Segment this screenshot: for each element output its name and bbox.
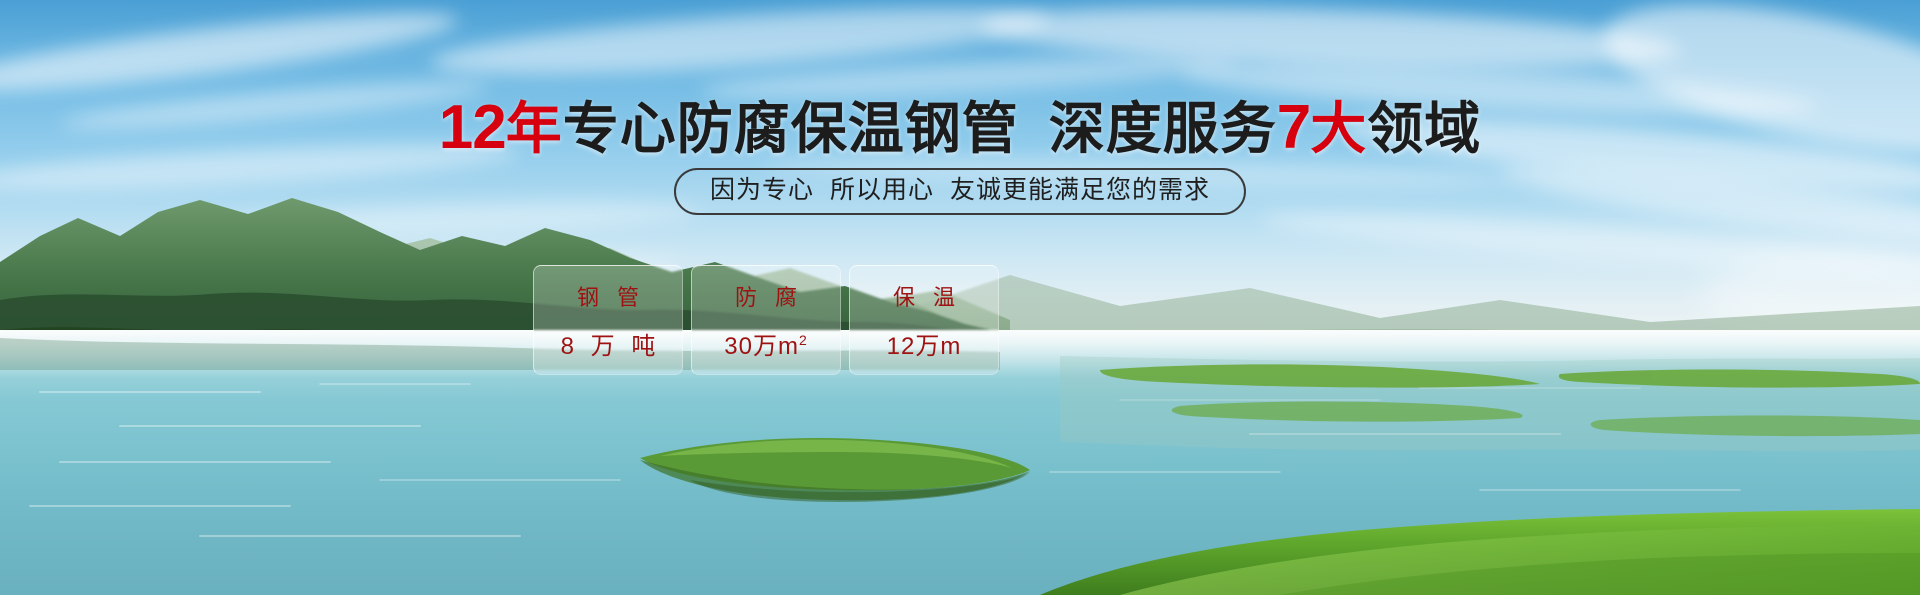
stat-value-superscript: 2 [799, 332, 808, 348]
headline-fields-number: 7 [1277, 93, 1310, 162]
stat-value-insulation: 12万m [887, 326, 962, 361]
headline-fields-unit: 大 [1310, 97, 1367, 160]
headline-years-unit: 年 [506, 97, 563, 160]
stat-card-group: 钢 管 8 万 吨 防 腐 30万m2 保 温 12万m [533, 265, 999, 375]
headline-service-text: 深度服务 [1049, 97, 1277, 160]
stat-title-anticorrosion: 防 腐 [729, 280, 803, 312]
headline: 12年专心防腐保温钢管深度服务7大领域 [0, 84, 1920, 165]
stat-title-insulation: 保 温 [887, 280, 961, 312]
subtitle-pill: 因为专心所以用心友诚更能满足您的需求 [674, 168, 1246, 215]
stat-card-insulation[interactable]: 保 温 12万m [849, 265, 999, 375]
stat-card-steel-pipe[interactable]: 钢 管 8 万 吨 [533, 265, 683, 375]
stat-value-main: 12万m [887, 333, 962, 360]
subtitle-part-3: 友诚更能满足您的需求 [950, 176, 1210, 204]
stat-value-steel-pipe: 8 万 吨 [556, 326, 661, 361]
hero-banner: 12年专心防腐保温钢管深度服务7大领域 因为专心所以用心友诚更能满足您的需求 钢… [0, 0, 1920, 595]
subtitle-part-1: 因为专心 [710, 176, 814, 204]
stat-value-main: 30万m [724, 333, 799, 360]
stat-value-main: 8 万 吨 [561, 333, 661, 360]
foreground-grass [0, 475, 1920, 595]
subtitle-part-2: 所以用心 [830, 176, 934, 204]
stat-title-steel-pipe: 钢 管 [571, 280, 645, 312]
stat-value-anticorrosion: 30万m2 [724, 326, 807, 361]
stat-card-anticorrosion[interactable]: 防 腐 30万m2 [691, 265, 841, 375]
headline-tail-text: 领域 [1367, 97, 1481, 160]
headline-years-number: 12 [439, 93, 506, 162]
headline-main-text: 专心防腐保温钢管 [563, 97, 1019, 160]
